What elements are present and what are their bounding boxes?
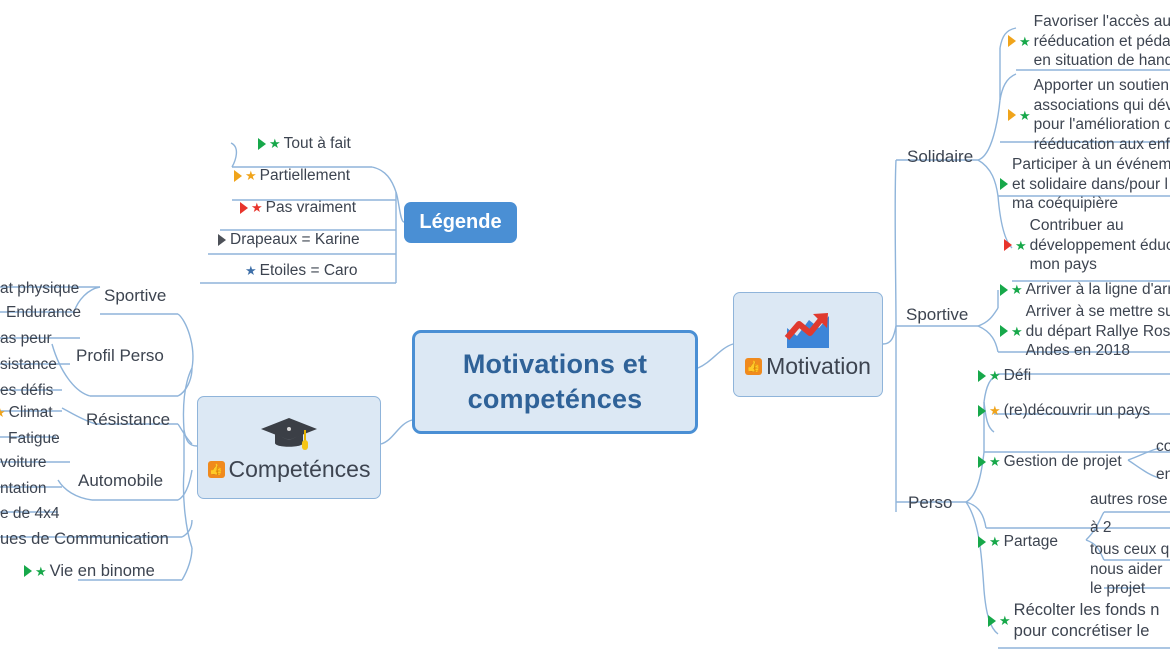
marker-group: ★ [1008, 35, 1031, 48]
leaf-line: rééducation aux enfa [1034, 135, 1170, 155]
leaf-solidaire-4[interactable]: ★ Contribuer au développement éduc mon p… [1004, 216, 1170, 275]
leaf-line: pour l'amélioration d [1034, 115, 1170, 135]
flag-icon [24, 565, 33, 577]
leaf-label: Climat [9, 403, 53, 423]
leaf-line: ma coéquipière [1012, 194, 1170, 214]
leaf-line: pour concrétiser le [1014, 621, 1160, 642]
leaf-solidaire-3[interactable]: Participer à un événem et solidaire dans… [1000, 155, 1170, 214]
marker-group: ★ [1008, 109, 1031, 122]
leaf-label: Apporter un soutien associations qui dév… [1034, 76, 1170, 154]
marker-group: ★ [24, 565, 47, 578]
flag-icon [258, 138, 267, 150]
central-node-label: Motivations et competénces [463, 347, 647, 416]
leaf-label: Arriver à la ligne d'arr [1026, 280, 1170, 300]
leaf-line: rééducation et pédag [1034, 32, 1170, 52]
central-line-1: Motivations et [463, 349, 647, 379]
leaf-label: e de 4x4 [0, 504, 59, 524]
marker-group: ★ [1004, 239, 1027, 252]
leaf-sub-a-2[interactable]: à 2 [1090, 518, 1112, 538]
leaf-automobile-2[interactable]: ntation [0, 479, 47, 499]
leaf-sub-tous-ceux[interactable]: tous ceux q nous aider le projet [1090, 540, 1169, 599]
group-label-perso[interactable]: Perso [908, 493, 952, 513]
legend-item-pas-vraiment[interactable]: ★ Pas vraiment [240, 198, 356, 218]
branch-node-motivation[interactable]: 👍 Motivation [733, 292, 883, 397]
leaf-label: Fatigue [8, 429, 60, 449]
leaf-label: es défis [0, 381, 53, 401]
flag-icon [978, 370, 987, 382]
leaf-vie-en-binome[interactable]: ★ Vie en binome [24, 561, 155, 582]
flag-icon [234, 170, 243, 182]
marker-group: ★ [234, 169, 257, 182]
marker-group [218, 234, 227, 246]
legend-item-label: Drapeaux = Karine [230, 230, 360, 250]
leaf-line: tous ceux q [1090, 540, 1169, 560]
marker-group: ★ [978, 535, 1001, 548]
leaf-sportive-right-2[interactable]: ★ Arriver à se mettre su du départ Rally… [1000, 302, 1170, 361]
leaf-label: tous ceux q nous aider le projet [1090, 540, 1169, 599]
leaf-line: Contribuer au [1030, 216, 1170, 236]
legend-item-label: Etoiles = Caro [260, 261, 358, 281]
leaf-label: Endurance [6, 303, 81, 323]
leaf-label: Vie en binome [50, 561, 155, 582]
leaf-sub-autres-rose[interactable]: autres rose [1090, 490, 1168, 510]
leaf-label: Gestion de projet [1004, 452, 1122, 472]
flag-icon [978, 456, 987, 468]
leaf-line: mon pays [1030, 255, 1170, 275]
leaf-profil-1[interactable]: as peur [0, 329, 52, 349]
central-node[interactable]: Motivations et competénces [412, 330, 698, 434]
leaf-label: Contribuer au développement éduc mon pay… [1030, 216, 1170, 275]
leaf-line: et solidaire dans/pour l [1012, 175, 1170, 195]
star-icon: ★ [251, 201, 263, 214]
leaf-perso-gestion[interactable]: ★ Gestion de projet [978, 452, 1122, 472]
leaf-line: associations qui déve [1034, 96, 1170, 116]
star-icon: ★ [989, 455, 1001, 468]
leaf-automobile-1[interactable]: voiture [0, 453, 47, 473]
flag-icon [1000, 178, 1009, 190]
thumbs-up-icon: 👍 [745, 358, 762, 375]
leaf-line: Andes en 2018 [1026, 341, 1170, 361]
star-icon: ★ [245, 169, 257, 182]
graduation-cap-icon [259, 412, 319, 456]
flag-icon [1004, 239, 1013, 251]
marker-group: ★ [978, 369, 1001, 382]
leaf-profil-3[interactable]: es défis [0, 381, 53, 401]
star-icon: ★ [989, 369, 1001, 382]
star-icon: ★ [1019, 109, 1031, 122]
leaf-label: Favoriser l'accès aux rééducation et péd… [1034, 12, 1170, 71]
flag-icon [218, 234, 227, 246]
leaf-line: Favoriser l'accès aux [1034, 12, 1170, 32]
group-label-sportive-right[interactable]: Sportive [906, 305, 968, 325]
star-icon: ★ [1015, 239, 1027, 252]
thumbs-up-icon: 👍 [208, 461, 225, 478]
branch-label-row: 👍 Competénces [208, 456, 371, 483]
leaf-line: en situation de handi [1034, 51, 1170, 71]
star-icon: ★ [269, 137, 281, 150]
chart-up-icon [783, 309, 833, 353]
marker-group: ★ [1000, 325, 1023, 338]
flag-icon [240, 202, 249, 214]
marker-group: ★ [988, 614, 1011, 627]
marker-group: ★ [978, 455, 1001, 468]
branch-label-row: 👍 Motivation [745, 353, 871, 380]
leaf-label: sistance [0, 355, 57, 375]
star-icon: ★ [1011, 325, 1023, 338]
leaf-line: le projet [1090, 579, 1169, 599]
star-icon: ★ [0, 406, 6, 419]
leaf-sportive-2[interactable]: Endurance [6, 303, 81, 323]
leaf-solidaire-1[interactable]: ★ Favoriser l'accès aux rééducation et p… [1008, 12, 1170, 71]
leaf-line: Apporter un soutien [1034, 76, 1170, 96]
legend-item-label: Partiellement [260, 166, 350, 186]
star-icon: ★ [989, 535, 1001, 548]
leaf-line: nous aider [1090, 560, 1169, 580]
leaf-label: co [1156, 437, 1170, 457]
legend-item-label: Tout à fait [284, 134, 351, 154]
leaf-sportive-right-1[interactable]: ★ Arriver à la ligne d'arr [1000, 280, 1170, 300]
leaf-resistance-1[interactable]: ★ Climat [0, 403, 53, 423]
legend-item-partiellement[interactable]: ★ Partiellement [234, 166, 350, 186]
leaf-label: à 2 [1090, 518, 1112, 538]
star-icon: ★ [35, 565, 47, 578]
leaf-communication[interactable]: ues de Communication [0, 529, 169, 550]
leaf-label: Participer à un événem et solidaire dans… [1012, 155, 1170, 214]
leaf-resistance-2[interactable]: Fatigue [8, 429, 60, 449]
leaf-label: en [1156, 465, 1170, 485]
flag-icon [978, 536, 987, 548]
leaf-label: ues de Communication [0, 529, 169, 550]
leaf-solidaire-2[interactable]: ★ Apporter un soutien associations qui d… [1008, 76, 1170, 154]
leaf-label: voiture [0, 453, 47, 473]
star-icon: ★ [999, 614, 1011, 627]
leaf-profil-2[interactable]: sistance [0, 355, 57, 375]
leaf-label: as peur [0, 329, 52, 349]
group-label-resistance[interactable]: Résistance [86, 410, 170, 430]
star-icon: ★ [989, 404, 1001, 417]
leaf-label: ntation [0, 479, 47, 499]
legend-item-drapeaux[interactable]: Drapeaux = Karine [218, 230, 360, 250]
central-line-2: competénces [468, 384, 643, 414]
leaf-label: Défi [1004, 366, 1032, 386]
group-label-solidaire[interactable]: Solidaire [907, 147, 973, 167]
leaf-line: Récolter les fonds n [1014, 600, 1160, 621]
leaf-label: Partage [1004, 532, 1058, 552]
leaf-label: Récolter les fonds n pour concrétiser le [1014, 600, 1160, 642]
marker-group: ★ [240, 201, 263, 214]
flag-icon [1000, 325, 1009, 337]
legend-item-tout-a-fait[interactable]: ★ Tout à fait [258, 134, 351, 154]
leaf-sportive-1[interactable]: at physique [0, 279, 79, 299]
group-label-profil-perso[interactable]: Profil Perso [76, 346, 164, 366]
flag-icon [978, 405, 987, 417]
flag-icon [1008, 109, 1017, 121]
flag-icon [988, 615, 997, 627]
leaf-label: autres rose [1090, 490, 1168, 510]
legend-title: Légende [419, 211, 501, 234]
legend-item-label: Pas vraiment [266, 198, 356, 218]
leaf-line: Participer à un événem [1012, 155, 1170, 175]
leaf-perso-partage[interactable]: ★ Partage [978, 532, 1058, 552]
group-label-sportive-left[interactable]: Sportive [104, 286, 166, 306]
marker-group [1000, 178, 1009, 190]
mindmap-canvas: Motivations et competénces Légende ★ Tou… [0, 0, 1170, 663]
group-label-automobile[interactable]: Automobile [78, 471, 163, 491]
marker-group: ★ [978, 404, 1001, 417]
star-icon: ★ [1011, 283, 1023, 296]
leaf-line: du départ Rallye Rose [1026, 322, 1170, 342]
flag-icon [1000, 284, 1009, 296]
star-icon: ★ [245, 264, 257, 277]
leaf-perso-defi[interactable]: ★ Défi [978, 366, 1031, 386]
leaf-label: (re)découvrir un pays [1004, 401, 1150, 421]
leaf-sub-en[interactable]: en [1156, 465, 1170, 485]
leaf-line: Arriver à se mettre su [1026, 302, 1170, 322]
leaf-perso-recolter[interactable]: ★ Récolter les fonds n pour concrétiser … [988, 600, 1159, 642]
branch-label-competences: Competénces [229, 456, 371, 483]
leaf-automobile-3[interactable]: e de 4x4 [0, 504, 59, 524]
branch-node-competences[interactable]: 👍 Competénces [197, 396, 381, 499]
star-icon: ★ [1019, 35, 1031, 48]
leaf-line: développement éduc [1030, 236, 1170, 256]
leaf-label: at physique [0, 279, 79, 299]
flag-icon [1008, 35, 1017, 47]
marker-group: ★ [245, 264, 257, 277]
legend-node[interactable]: Légende [404, 202, 517, 243]
leaf-sub-co[interactable]: co [1156, 437, 1170, 457]
leaf-label: Arriver à se mettre su du départ Rallye … [1026, 302, 1170, 361]
legend-item-etoiles[interactable]: ★ Etoiles = Caro [245, 261, 357, 281]
marker-group: ★ [258, 137, 281, 150]
leaf-perso-redecouvrir[interactable]: ★ (re)découvrir un pays [978, 401, 1150, 421]
branch-label-motivation: Motivation [766, 353, 871, 380]
marker-group: ★ [1000, 283, 1023, 296]
